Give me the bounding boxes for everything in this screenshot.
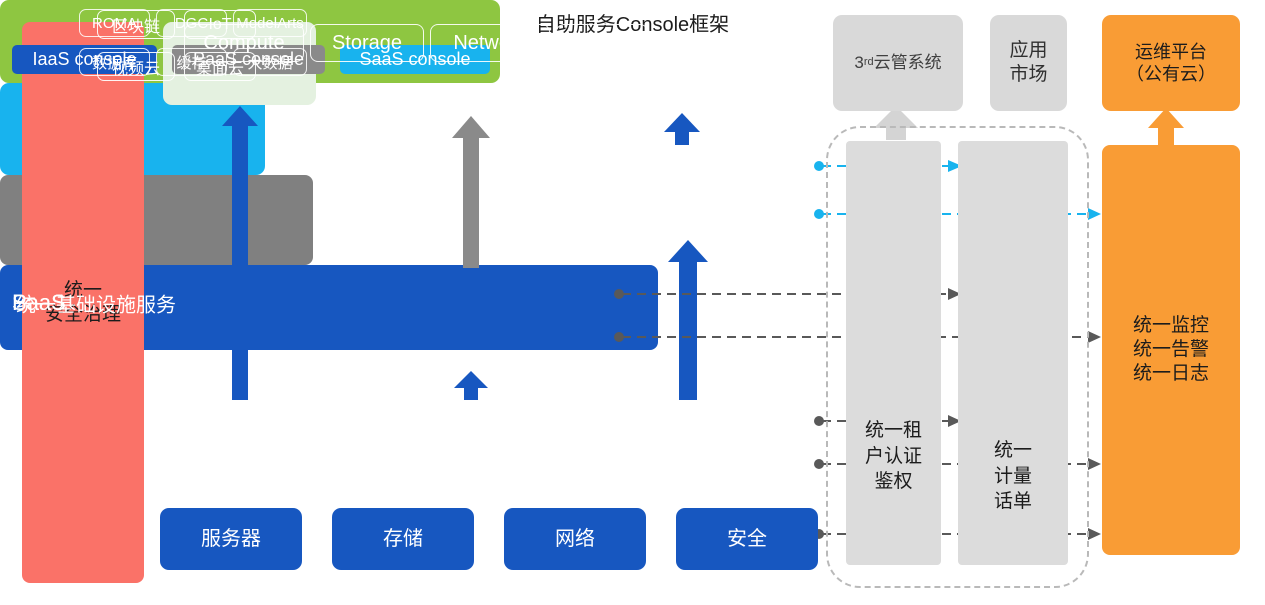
hardware-server-box[interactable]: 服务器 — [160, 508, 302, 570]
unified-tenant-auth-label: 统一租 户认证 鉴权 — [846, 418, 941, 495]
infra-service-compute[interactable]: Compute — [184, 24, 304, 62]
arrow-paas-to-console — [452, 116, 490, 268]
unified-monitoring-panel[interactable]: 统一监控 统一告警 统一日志 — [1102, 145, 1240, 555]
third-party-label-sup: rd — [864, 56, 874, 70]
architecture-diagram: 统一 安全治理 API网关 自助服务Console框架 IaaS console… — [0, 0, 1265, 605]
hardware-security-box[interactable]: 安全 — [676, 508, 818, 570]
hardware-network-box[interactable]: 网络 — [504, 508, 646, 570]
unified-infrastructure-label: 统一基础设施服务 — [16, 288, 176, 317]
third-party-cloud-mgmt-box[interactable]: 3rd云管系统 — [833, 15, 963, 111]
third-party-label-suffix: 云管系统 — [874, 52, 942, 73]
hardware-storage-box[interactable]: 存储 — [332, 508, 474, 570]
third-party-label-prefix: 3 — [854, 52, 863, 73]
arrow-infra-to-saas — [668, 240, 708, 400]
paas-service-database[interactable]: 数据库 — [79, 48, 150, 76]
infra-service-storage[interactable]: Storage — [310, 24, 424, 62]
infra-service-network[interactable]: Network — [430, 24, 550, 62]
arrow-infra-to-paas — [454, 371, 488, 400]
infra-service-cce[interactable]: CCE — [556, 24, 648, 62]
arrow-saas-to-console — [664, 113, 700, 145]
unified-metering-label: 统一 计量 话单 — [958, 438, 1068, 515]
paas-service-roma[interactable]: ROMA — [79, 9, 150, 37]
arrow-to-ops-platform — [1148, 108, 1184, 145]
ops-platform-box[interactable]: 运维平台 （公有云） — [1102, 15, 1240, 111]
unified-metering-column[interactable]: 统一 计量 话单 — [958, 141, 1068, 565]
app-market-box[interactable]: 应用 市场 — [990, 15, 1067, 111]
unified-tenant-auth-column[interactable]: 统一租 户认证 鉴权 — [846, 141, 941, 565]
